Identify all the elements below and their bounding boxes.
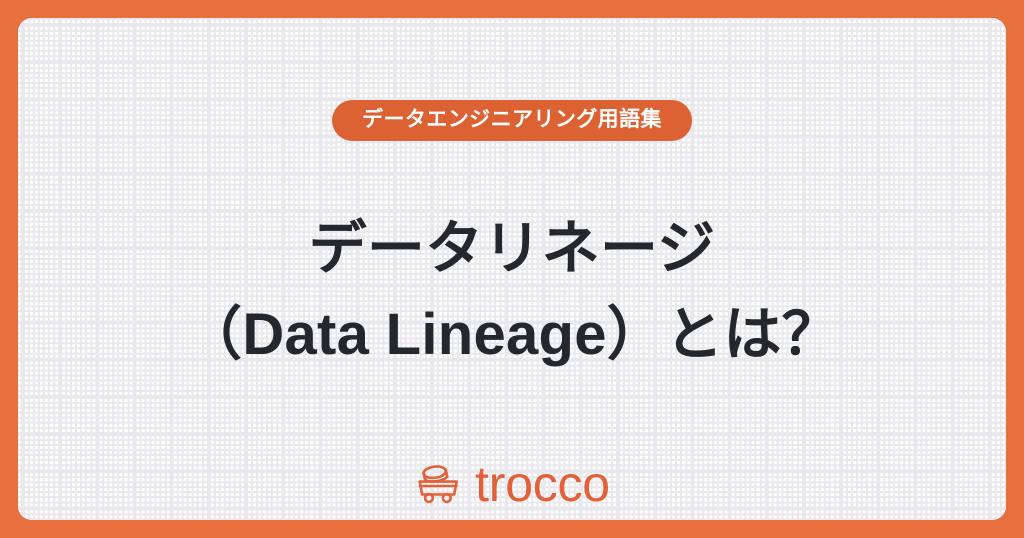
thumbnail-card: データエンジニアリング用語集 データリネージ （Data Lineage）とは？	[0, 0, 1024, 538]
page-title-line-2: （Data Lineage）とは？	[18, 292, 1006, 378]
white-card: データエンジニアリング用語集 データリネージ （Data Lineage）とは？	[18, 18, 1006, 520]
trocco-wordmark: trocco	[475, 459, 610, 509]
trocco-cart-icon	[414, 459, 462, 507]
page-title: データリネージ （Data Lineage）とは？	[18, 206, 1006, 378]
page-title-line-1: データリネージ	[18, 206, 1006, 292]
category-badge: データエンジニアリング用語集	[332, 100, 692, 141]
card-content: データエンジニアリング用語集 データリネージ （Data Lineage）とは？	[18, 18, 1006, 520]
brand-logo: trocco	[414, 458, 610, 508]
